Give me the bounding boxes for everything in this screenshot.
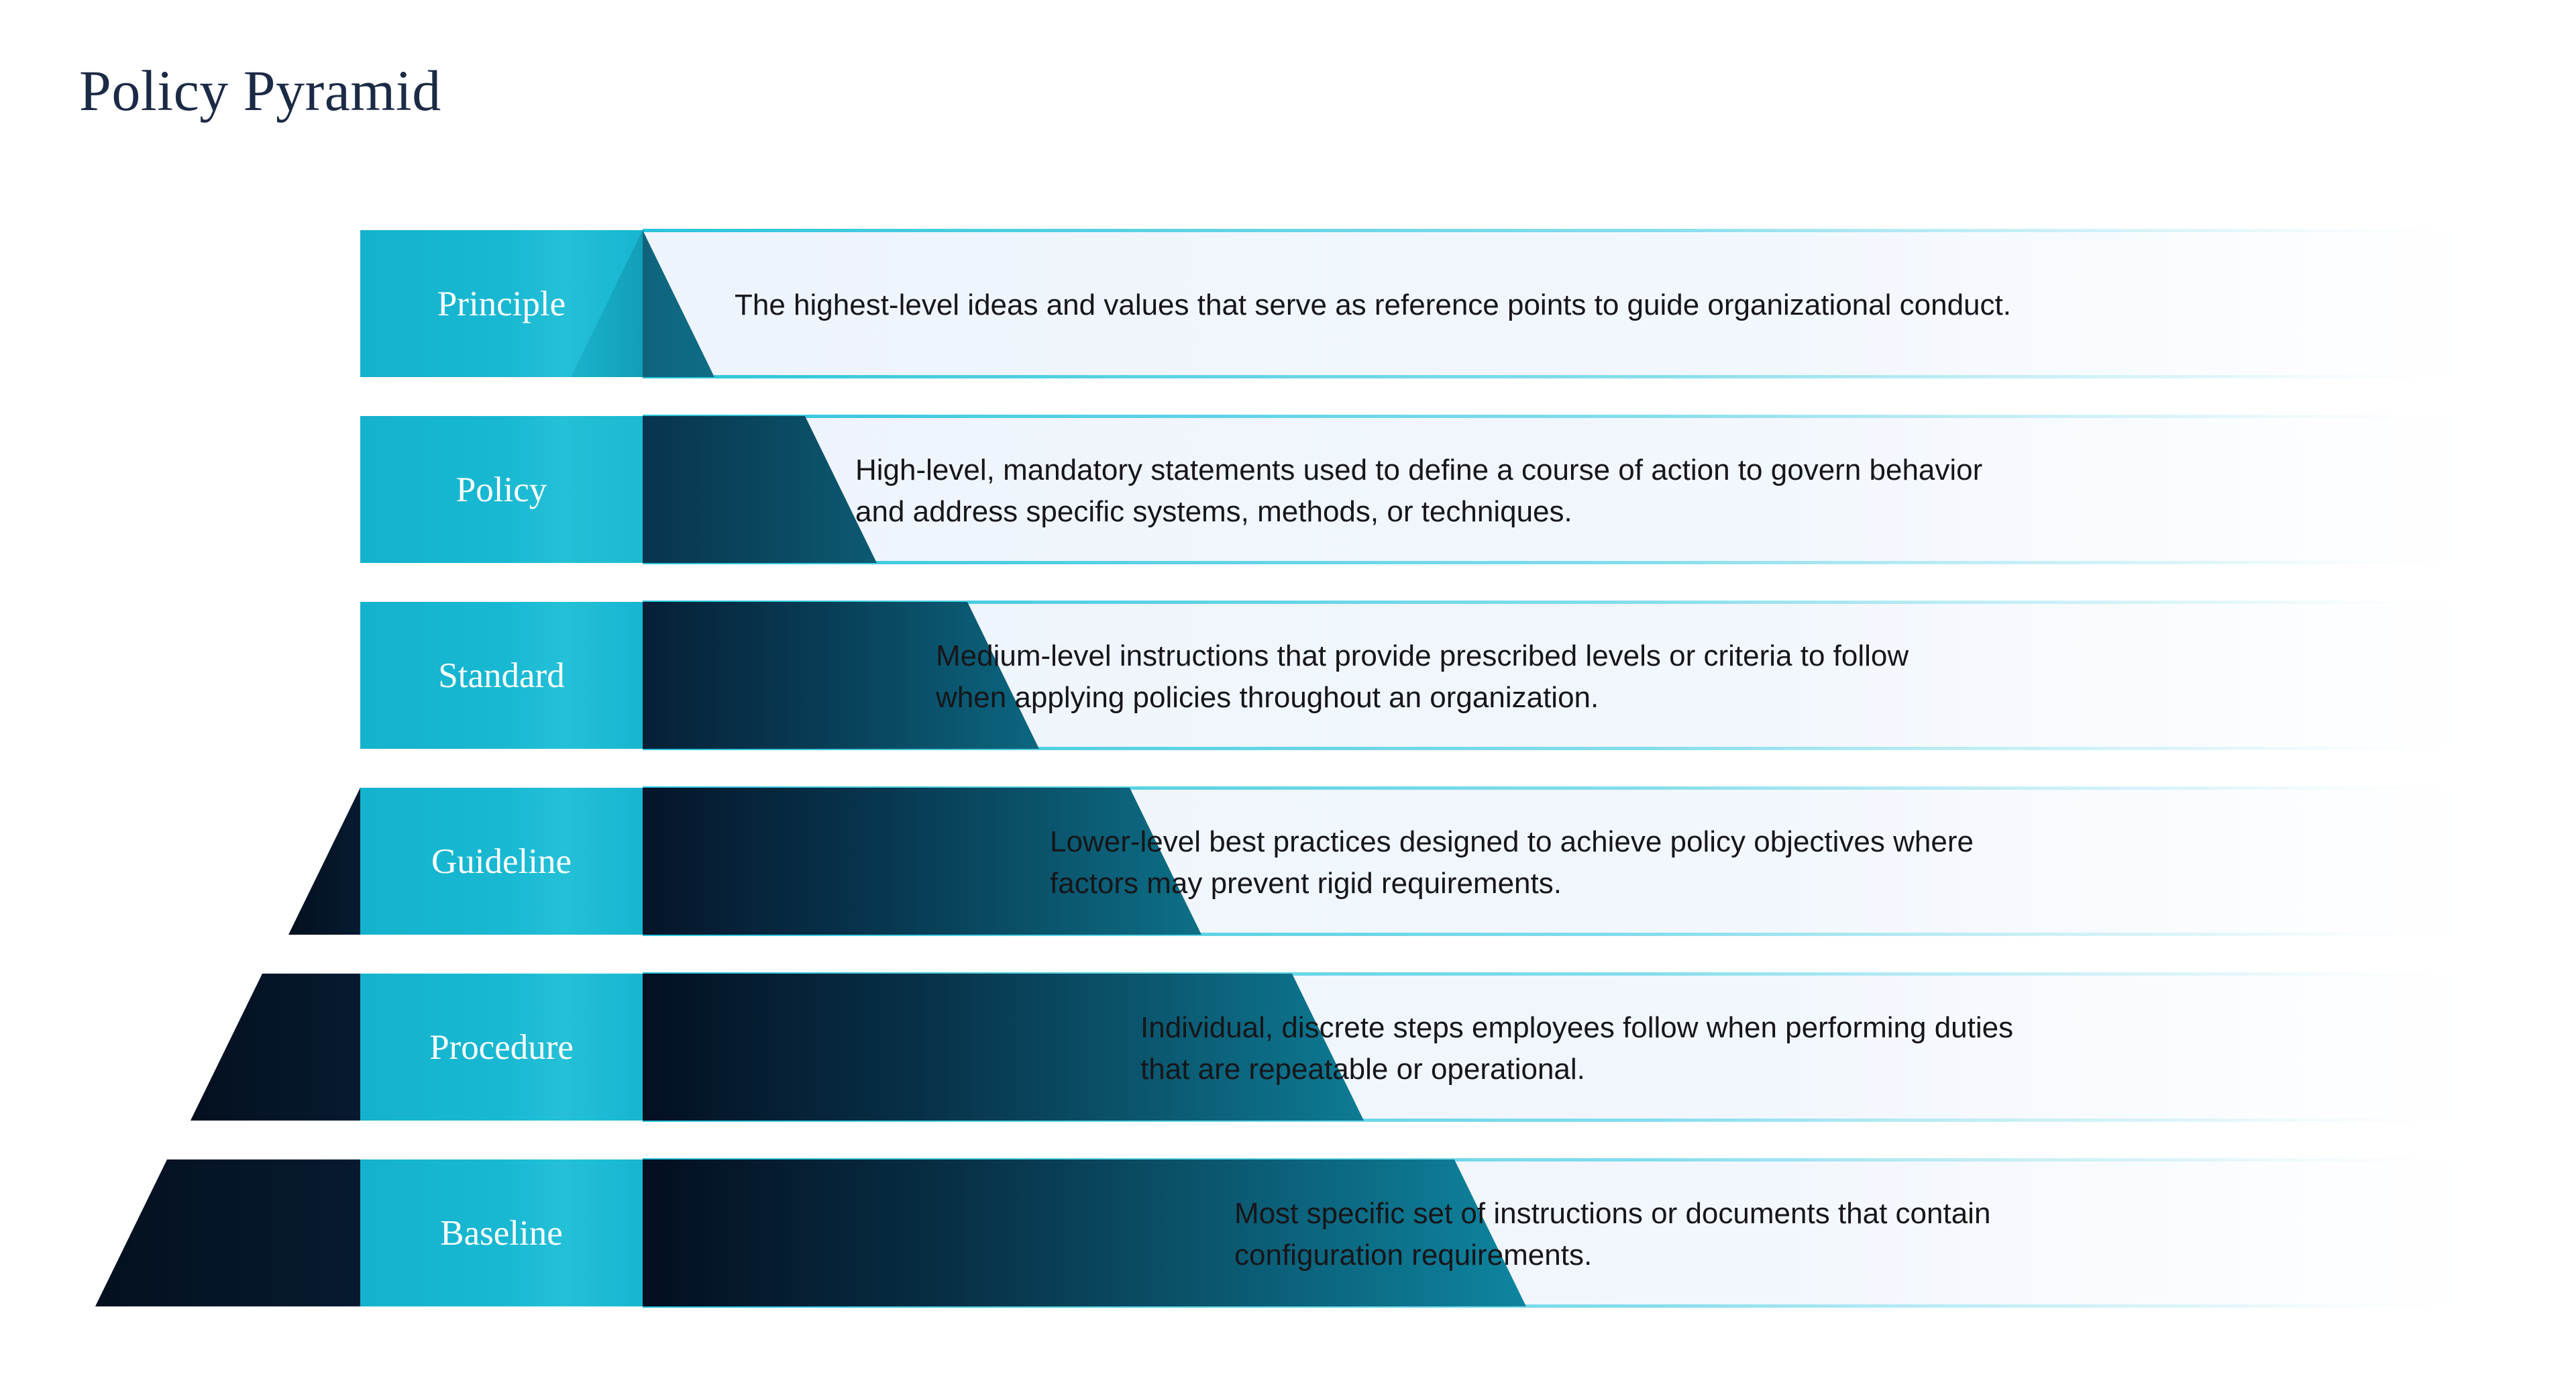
level-description-principle: The highest-level ideas and values that … (735, 284, 2365, 326)
level-description-standard: Medium-level instructions that provide p… (936, 635, 2365, 719)
level-label-principle: Principle (360, 287, 643, 322)
level-description-guideline: Lower-level best practices designed to a… (1050, 821, 2365, 905)
level-label-policy: Policy (360, 472, 643, 508)
level-label-baseline: Baseline (360, 1216, 643, 1251)
slide-canvas: Policy Pyramid (0, 0, 2576, 1397)
level-description-procedure: Individual, discrete steps employees fol… (1140, 1007, 2365, 1091)
level-label-procedure: Procedure (360, 1030, 643, 1066)
level-label-guideline: Guideline (360, 844, 643, 880)
level-label-standard: Standard (360, 658, 643, 694)
policy-pyramid-diagram: Principle The highest-level ideas and va… (0, 0, 2576, 1397)
level-description-baseline: Most specific set of instructions or doc… (1234, 1193, 2365, 1277)
level-description-policy: High-level, mandatory statements used to… (855, 450, 2365, 533)
